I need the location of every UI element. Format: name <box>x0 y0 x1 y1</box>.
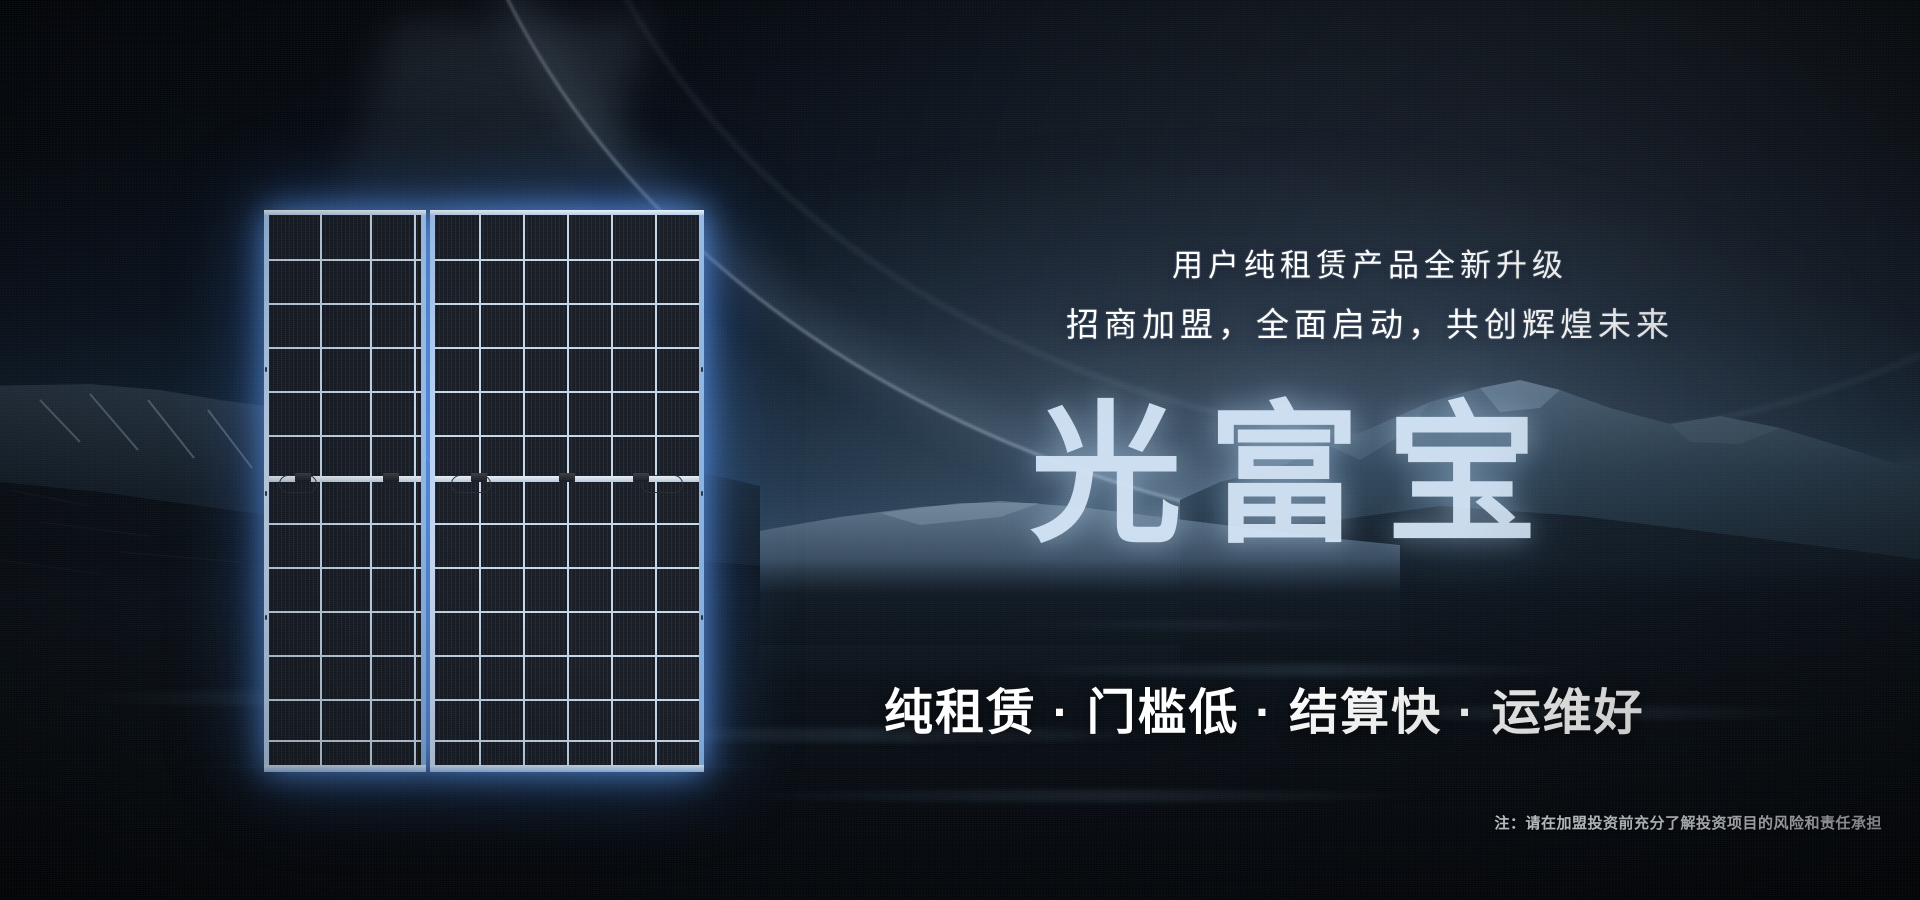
headline-line-1: 用户纯租赁产品全新升级 <box>1010 248 1730 284</box>
solar-panel-left[interactable] <box>264 210 426 772</box>
solar-panel-right[interactable] <box>430 210 704 772</box>
junction-box <box>633 473 649 482</box>
solar-panel-product[interactable] <box>264 210 704 772</box>
water-streak <box>700 790 1460 802</box>
panel-cells-left <box>269 215 421 765</box>
junction-box <box>295 473 311 482</box>
junction-box <box>471 473 487 482</box>
tagline: 纯租赁 · 门槛低 · 结算快 · 运维好 <box>884 673 1645 744</box>
disclaimer-footnote: 注：请在加盟投资前充分了解投资项目的风险和责任承担 <box>1494 812 1882 833</box>
promo-banner: 用户纯租赁产品全新升级 招商加盟，全面启动，共创辉煌未来 光富宝 纯租赁 · 门… <box>0 0 1920 900</box>
water-streak <box>980 620 1400 630</box>
panel-bottom-frame <box>264 765 426 772</box>
junction-box <box>559 473 575 482</box>
brand-title: 光富宝 <box>1030 400 1564 552</box>
junction-box <box>383 473 399 482</box>
panel-cells-right <box>435 215 699 765</box>
headline-line-2: 招商加盟，全面启动，共创辉煌未来 <box>1010 306 1730 344</box>
headline-block: 用户纯租赁产品全新升级 招商加盟，全面启动，共创辉煌未来 <box>1010 248 1730 344</box>
panel-bottom-frame <box>430 765 704 772</box>
